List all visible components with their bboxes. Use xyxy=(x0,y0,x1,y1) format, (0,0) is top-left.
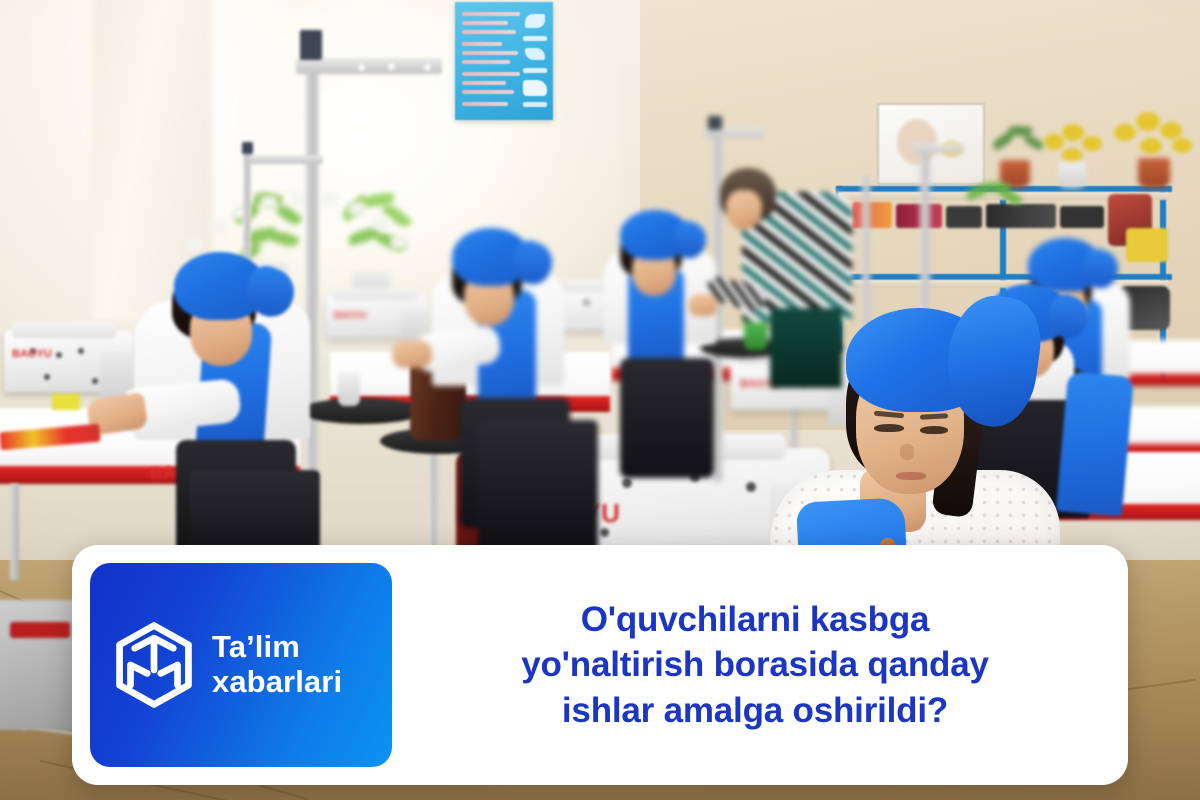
student-foreground-eye-left xyxy=(874,424,904,432)
instruction-poster xyxy=(455,2,553,120)
poster-icon-iron xyxy=(523,80,547,96)
headline-card: Ta’lim xabarlari O'quvchilarni kasbga yo… xyxy=(72,545,1128,785)
hanging-plant xyxy=(964,180,1024,216)
page-title: O'quvchilarni kasbga yo'naltirish borasi… xyxy=(521,597,989,734)
brand-name: Ta’lim xabarlari xyxy=(212,630,342,699)
screenshot-stage: BAOYU BAOYU BAOYU BAOYU xyxy=(0,0,1200,800)
poster-icon-scissors xyxy=(525,14,545,28)
shelf-item-yellow-craft xyxy=(1126,228,1168,262)
shelf-items-toys xyxy=(852,202,892,228)
poster-icon-needle xyxy=(525,48,545,60)
machine-brand-left: BAOYU xyxy=(12,348,52,360)
shelf-plant-a xyxy=(986,122,1048,166)
shelf-yellow-flowers-a xyxy=(1110,108,1198,164)
shelf-vase xyxy=(1058,162,1086,188)
thread-spool-disc-left xyxy=(300,398,424,424)
machine-brand-mid-left: BAOYU xyxy=(334,310,367,320)
brand-badge[interactable]: Ta’lim xabarlari xyxy=(90,563,392,767)
cube-outline-icon xyxy=(112,621,196,709)
headline-container: O'quvchilarni kasbga yo'naltirish borasi… xyxy=(392,545,1128,785)
student-foreground-eye-right xyxy=(920,426,948,434)
thread-cone-white xyxy=(338,372,360,406)
